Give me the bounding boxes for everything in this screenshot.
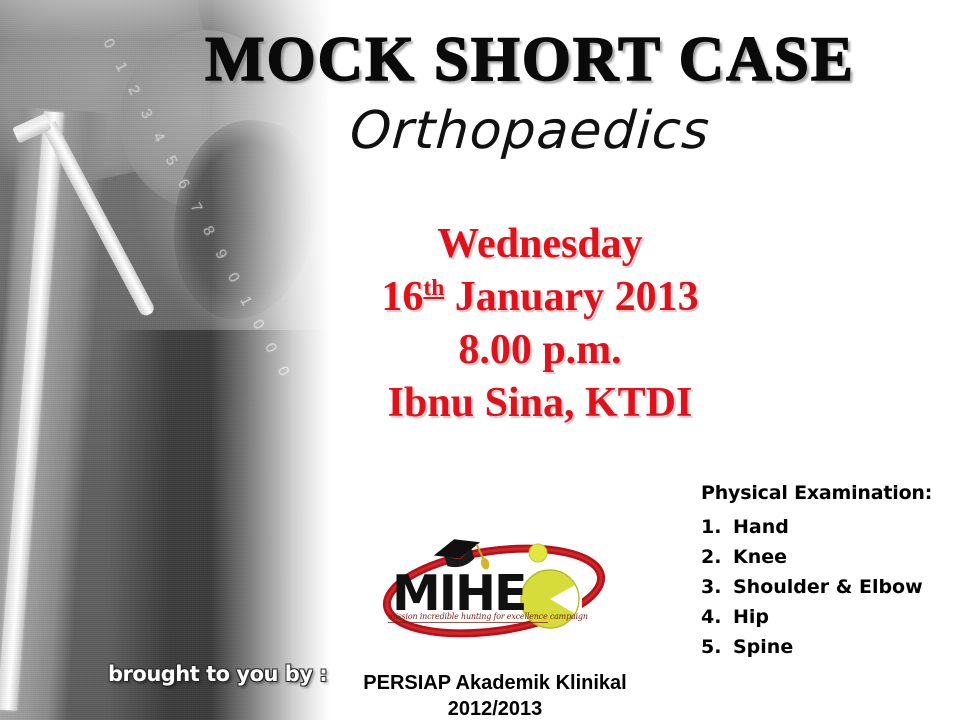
logo-orbit-ball-icon bbox=[529, 544, 547, 562]
event-date-suffix: th bbox=[423, 275, 444, 301]
list-item: 2. Knee bbox=[701, 542, 932, 572]
event-time: 8.00 p.m. bbox=[300, 324, 780, 377]
list-item-label: Shoulder & Elbow bbox=[733, 572, 923, 602]
organiser-credit: PERSIAP Akademik Klinikal 2012/2013 bbox=[330, 670, 660, 720]
list-item: 4. Hip bbox=[701, 602, 932, 632]
list-item-number: 5. bbox=[701, 632, 733, 662]
list-item: 5. Spine bbox=[701, 632, 932, 662]
physical-examination-list: 1. Hand 2. Knee 3. Shoulder & Elbow 4. H… bbox=[701, 512, 932, 662]
list-item-number: 2. bbox=[701, 542, 733, 572]
list-item-number: 1. bbox=[701, 512, 733, 542]
list-item: 1. Hand bbox=[701, 512, 932, 542]
poster-headline: MOCK SHORT CASE bbox=[170, 26, 890, 92]
poster-canvas: 0 1 2 3 4 5 6 7 8 9 0 1 0 0 0 MOCK SHORT… bbox=[0, 0, 960, 720]
mihec-wordmark: MIHE bbox=[392, 569, 525, 618]
list-item-number: 4. bbox=[701, 602, 733, 632]
brought-to-you-by-label: brought to you by : bbox=[108, 662, 327, 686]
event-date-number: 16 bbox=[381, 274, 423, 320]
event-details-block: Wednesday 16th January 2013 8.00 p.m. Ib… bbox=[300, 218, 780, 430]
event-day: Wednesday bbox=[300, 218, 780, 271]
event-venue: Ibnu Sina, KTDI bbox=[300, 377, 780, 430]
list-item-label: Hip bbox=[733, 602, 769, 632]
mihec-tagline: mission incredible hunting for excellenc… bbox=[388, 612, 548, 623]
physical-examination-block: Physical Examination: 1. Hand 2. Knee 3.… bbox=[701, 482, 932, 662]
organiser-name: PERSIAP Akademik Klinikal bbox=[330, 670, 660, 696]
event-date-rest: January 2013 bbox=[444, 274, 698, 320]
poster-subheadline: Orthopaedics bbox=[188, 100, 872, 162]
physical-examination-title: Physical Examination: bbox=[701, 482, 932, 504]
organiser-session: 2012/2013 bbox=[330, 696, 660, 720]
list-item-label: Spine bbox=[733, 632, 793, 662]
list-item-label: Knee bbox=[733, 542, 787, 572]
event-date: 16th January 2013 bbox=[300, 271, 780, 324]
list-item: 3. Shoulder & Elbow bbox=[701, 572, 932, 602]
list-item-label: Hand bbox=[733, 512, 789, 542]
mihec-logo: MIHE mission incredible hunting for exce… bbox=[378, 536, 610, 646]
list-item-number: 3. bbox=[701, 572, 733, 602]
